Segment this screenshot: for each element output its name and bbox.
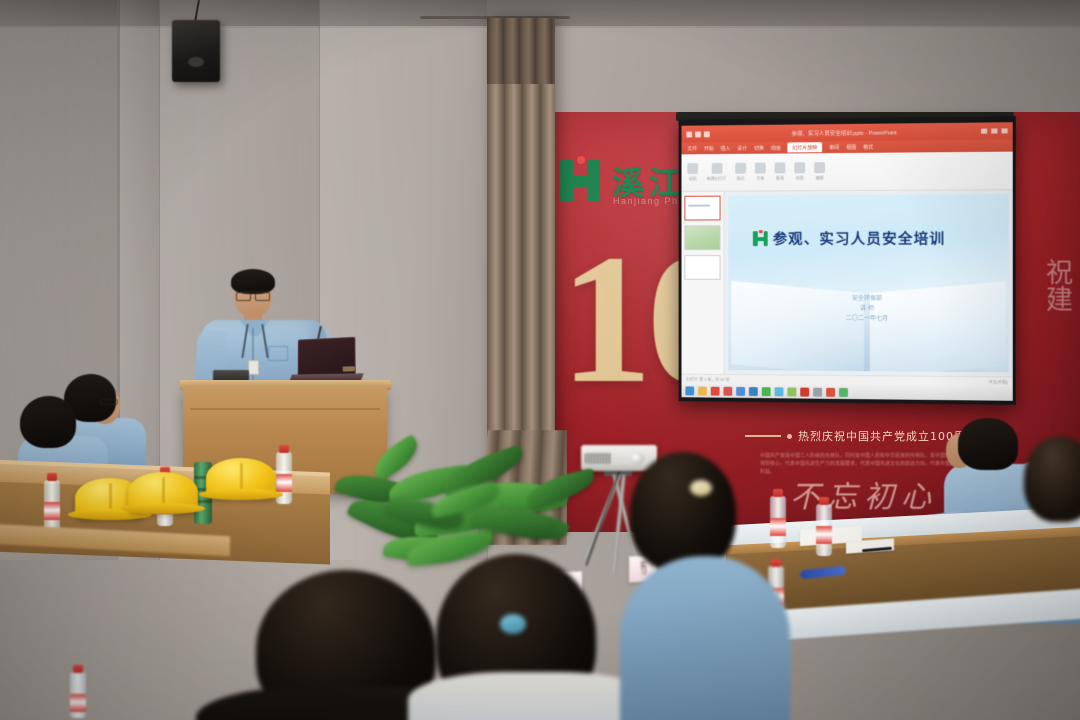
language-indicator: 中文(中国) xyxy=(989,379,1008,385)
foreground-attendee-shoulders xyxy=(620,556,790,720)
paste-icon[interactable] xyxy=(687,163,698,174)
presenter-shirt-placket xyxy=(252,328,254,388)
slide-thumbnail-panel[interactable] xyxy=(682,192,725,374)
tab-view[interactable]: 视图 xyxy=(846,143,856,150)
bottle-label xyxy=(44,502,60,520)
bottle-cap xyxy=(47,473,57,481)
ribbon-group-editing[interactable]: 编辑 xyxy=(814,162,825,181)
ribbon-group-new-slide[interactable]: 新建幻灯片 xyxy=(707,163,727,182)
tab-insert[interactable]: 插入 xyxy=(721,145,731,152)
tab-format[interactable]: 格式 xyxy=(863,143,873,150)
shield-icon[interactable] xyxy=(839,387,848,396)
browser-icon[interactable] xyxy=(685,386,694,395)
redo-icon[interactable] xyxy=(704,131,710,137)
tool-icon[interactable] xyxy=(813,387,822,396)
paragraph-icon[interactable] xyxy=(775,162,786,173)
drawing-icon[interactable] xyxy=(794,162,805,173)
name-card-text: 实习 xyxy=(639,561,648,575)
windows-taskbar[interactable] xyxy=(682,383,1013,400)
company-logo-icon xyxy=(560,160,602,202)
water-bottle-icon xyxy=(70,672,86,718)
editing-icon[interactable] xyxy=(814,162,825,173)
bottle-cap xyxy=(819,497,829,505)
ribbon-label-layout: 版式 xyxy=(737,176,745,182)
ppt-document-title: 参观、实习人员安全培训.pptx - PowerPoint xyxy=(716,127,975,138)
ribbon-group-paragraph[interactable]: 段落 xyxy=(775,162,786,181)
ribbon-label-new-slide: 新建幻灯片 xyxy=(707,176,727,182)
slide-subtitle-line: 二〇二一年七月 xyxy=(728,313,1008,324)
projection-screen: 参观、实习人员安全培训.pptx - PowerPoint 文件 开始 插入 设… xyxy=(679,116,1016,405)
minimize-icon[interactable] xyxy=(981,129,987,134)
bottle-cap xyxy=(279,445,289,453)
tab-animations[interactable]: 动画 xyxy=(771,144,781,151)
slide-subtitle: 安全环保部 讲 师 二〇二一年七月 xyxy=(728,293,1008,324)
ribbon-group-font[interactable]: 字体 xyxy=(755,163,766,182)
laptop-screen xyxy=(298,337,356,377)
hair-tie-icon xyxy=(500,614,526,634)
ribbon-group-layout[interactable]: 版式 xyxy=(735,163,746,182)
ribbon-toolbar[interactable]: 粘贴 新建幻灯片 版式 字体 段落 xyxy=(682,152,1013,192)
thumbnail-title-line xyxy=(688,205,709,207)
slide-thumbnail[interactable] xyxy=(684,225,720,250)
font-icon[interactable] xyxy=(755,163,766,174)
curtain-header xyxy=(487,18,555,84)
tab-review[interactable]: 审阅 xyxy=(829,144,839,151)
chrome-icon[interactable] xyxy=(711,386,720,395)
maximize-icon[interactable] xyxy=(991,128,997,133)
water-bottle-icon xyxy=(816,504,832,556)
slide-thumbnail[interactable] xyxy=(684,196,720,221)
tab-slideshow[interactable]: 幻灯片放映 xyxy=(787,142,822,152)
bottle-label xyxy=(70,694,86,712)
tab-transitions[interactable]: 切换 xyxy=(754,144,764,151)
ppt-workspace: 参观、实习人员安全培训 安全环保部 讲 师 二〇二一年七月 xyxy=(682,190,1013,376)
tab-home[interactable]: 开始 xyxy=(704,145,714,152)
tab-design[interactable]: 设计 xyxy=(737,144,747,151)
water-bottle-icon xyxy=(44,480,60,532)
save-icon[interactable] xyxy=(686,131,692,137)
projector-lens-icon xyxy=(631,452,644,465)
slogan-dash-icon xyxy=(745,435,781,437)
bottle-cap xyxy=(771,559,781,567)
powerpoint-icon[interactable] xyxy=(826,387,835,396)
slogan-dot-icon xyxy=(787,434,792,439)
bottle-cap xyxy=(773,489,783,497)
current-slide[interactable]: 参观、实习人员安全培训 安全环保部 讲 师 二〇二一年七月 xyxy=(728,194,1008,372)
bottle-cap xyxy=(73,665,83,673)
wechat-icon[interactable] xyxy=(762,387,771,396)
mail-icon[interactable] xyxy=(749,387,758,396)
ppt-title-bar: 参观、实习人员安全培训.pptx - PowerPoint xyxy=(682,122,1013,142)
bottle-label xyxy=(770,518,786,536)
backdrop-vertical-text: 祝建 xyxy=(1036,258,1076,312)
presenter-shirt-pocket xyxy=(268,346,288,361)
employee-badge xyxy=(248,360,259,375)
ribbon-label-editing: 编辑 xyxy=(816,175,824,181)
slide-title-row: 参观、实习人员安全培训 xyxy=(753,228,945,249)
pdf-icon[interactable] xyxy=(800,387,809,396)
wall-speaker-icon xyxy=(172,20,220,82)
media-icon[interactable] xyxy=(723,386,732,395)
window-controls[interactable] xyxy=(981,128,1008,133)
ribbon-group-paste[interactable]: 粘贴 xyxy=(687,163,698,182)
slide-title: 参观、实习人员安全培训 xyxy=(773,228,946,249)
new-slide-icon[interactable] xyxy=(711,163,722,174)
conference-hall-photo: 100 溪江藥業 Hanjiang Pharmaceutical 热烈庆祝中国共… xyxy=(0,0,1080,720)
bottle-label xyxy=(276,474,292,492)
laptop-icon xyxy=(290,337,360,385)
document-icon[interactable] xyxy=(736,386,745,395)
folder-icon[interactable] xyxy=(698,386,707,395)
attendee-hair xyxy=(20,396,76,448)
layout-icon[interactable] xyxy=(735,163,746,174)
bottle-label xyxy=(816,526,832,544)
qq-icon[interactable] xyxy=(775,387,784,396)
tab-file[interactable]: 文件 xyxy=(687,145,697,152)
slide-stage[interactable]: 参观、实习人员安全培训 安全环保部 讲 师 二〇二一年七月 xyxy=(724,190,1012,376)
ribbon-label-paragraph: 段落 xyxy=(776,175,784,181)
foreground-attendee-head xyxy=(630,452,736,572)
close-icon[interactable] xyxy=(1002,128,1008,133)
quick-access-toolbar[interactable] xyxy=(686,131,709,137)
powerpoint-window[interactable]: 参观、实习人员安全培训.pptx - PowerPoint 文件 开始 插入 设… xyxy=(682,122,1013,401)
ribbon-label-drawing: 绘图 xyxy=(796,175,804,181)
ribbon-label-font: 字体 xyxy=(756,176,764,182)
laptop-logo-icon xyxy=(343,366,355,371)
hard-hat-icon xyxy=(206,458,276,498)
eyeglasses-icon xyxy=(236,291,270,298)
ribbon-group-drawing[interactable]: 绘图 xyxy=(794,162,805,181)
hair-tie-icon xyxy=(690,480,712,496)
undo-icon[interactable] xyxy=(695,131,701,137)
attendee-hair xyxy=(958,418,1018,470)
ribbon-label-paste: 粘贴 xyxy=(689,176,697,182)
water-bottle-icon xyxy=(770,496,786,548)
hard-hat-icon xyxy=(128,472,198,512)
podium-trim xyxy=(190,408,380,410)
slide-logo-icon xyxy=(753,232,768,247)
slide-thumbnail[interactable] xyxy=(684,255,720,280)
notes-icon[interactable] xyxy=(787,387,796,396)
slide-counter: 幻灯片 第 1 张，共 30 张 xyxy=(686,376,729,382)
